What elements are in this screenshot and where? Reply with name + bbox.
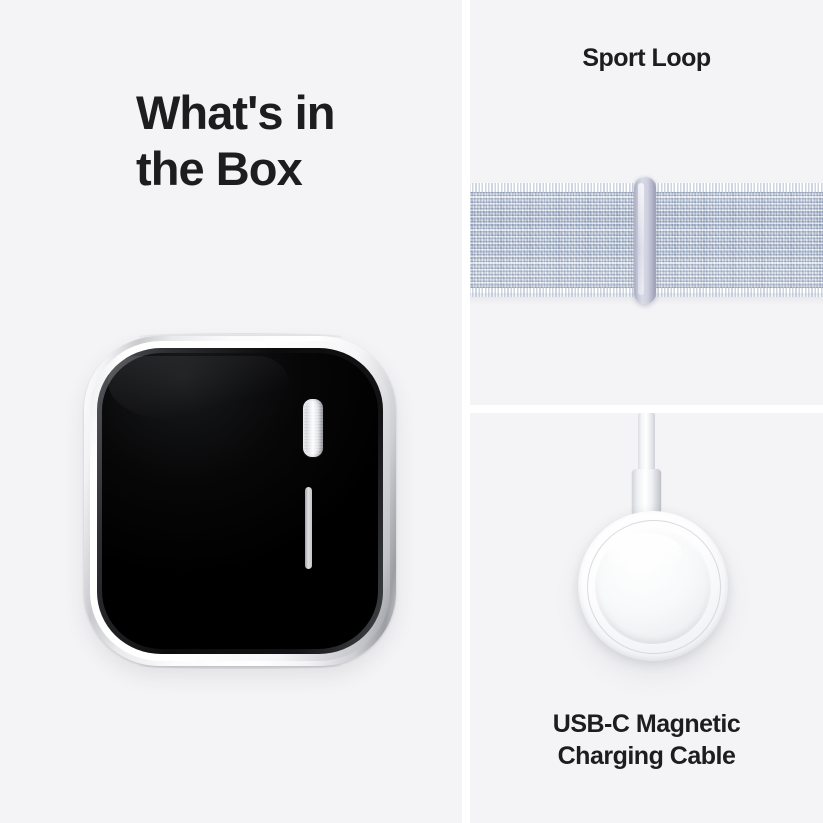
watch-case	[84, 336, 396, 666]
charger-puck-inner	[595, 528, 711, 644]
band-loop-keeper	[634, 176, 656, 304]
page-title: What's in the Box	[136, 85, 335, 198]
watch-display	[102, 353, 378, 649]
panel-charging-cable: USB-C Magnetic Charging Cable	[470, 413, 823, 823]
digital-crown	[303, 399, 323, 457]
band-keeper-highlight	[638, 183, 644, 295]
watch-side-button	[305, 487, 312, 569]
charger-puck	[578, 511, 728, 661]
sport-loop-label: Sport Loop	[470, 44, 823, 74]
apple-watch-image	[84, 336, 396, 666]
charger-cable	[638, 413, 655, 475]
panel-watch: What's in the Box	[0, 0, 462, 823]
product-image-canvas: What's in the Box Sport Loop	[0, 0, 823, 823]
charging-cable-label: USB-C Magnetic Charging Cable	[470, 709, 823, 772]
